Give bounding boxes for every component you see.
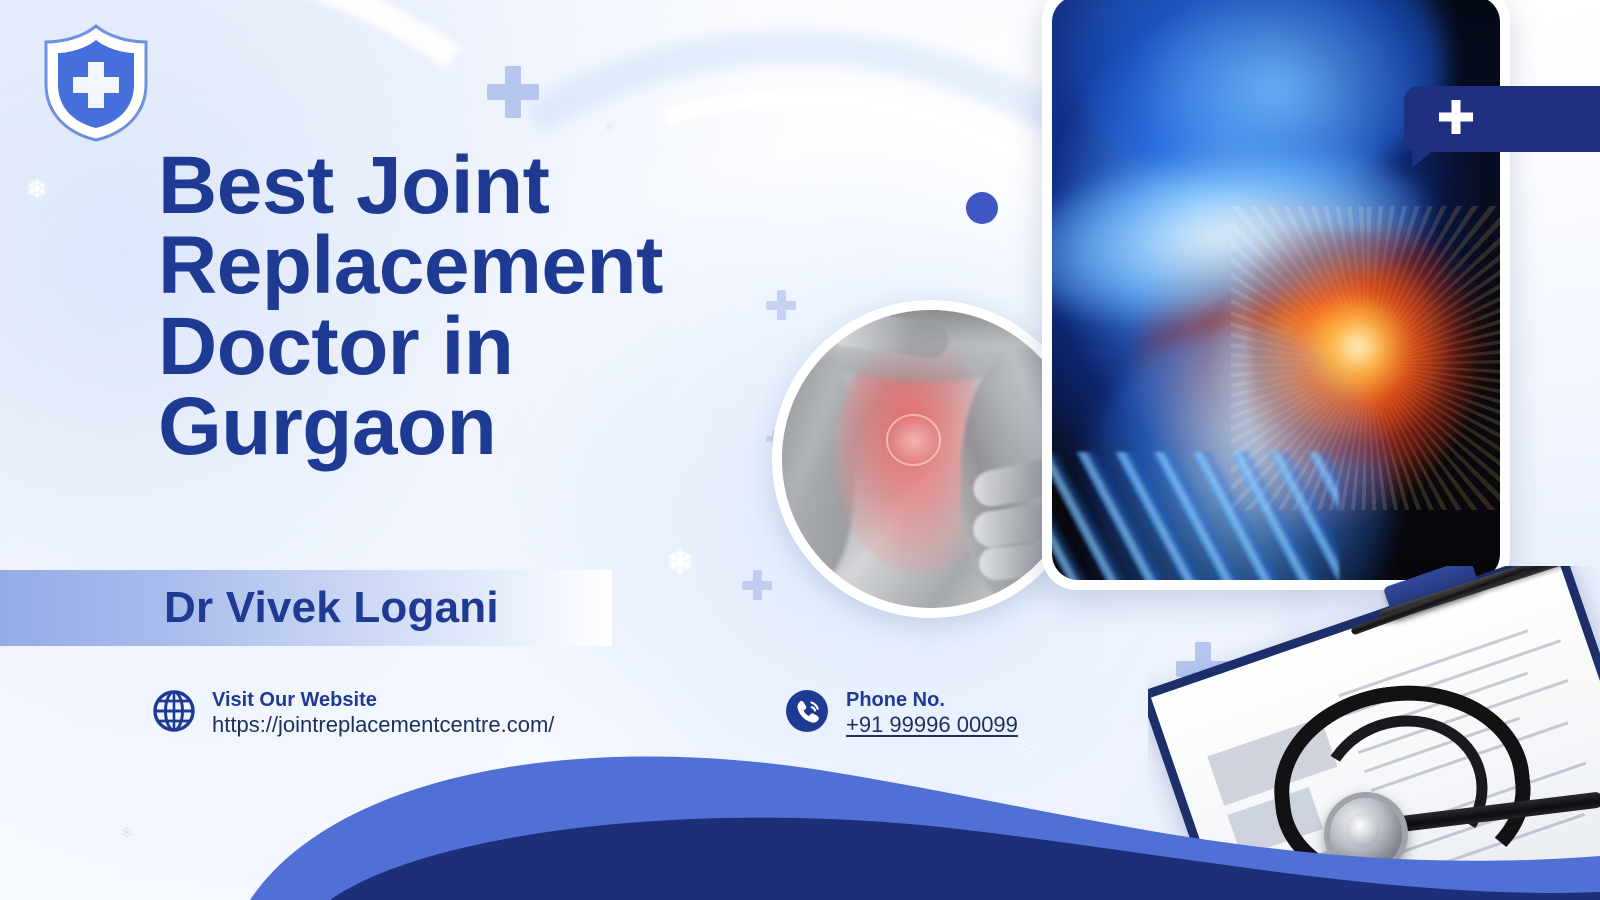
doctor-name: Dr Vivek Logani bbox=[164, 583, 499, 633]
shield-medical-cross-icon bbox=[38, 22, 154, 144]
decor-dot-1 bbox=[966, 192, 998, 224]
headline-line-3: Doctor in bbox=[158, 307, 838, 387]
doctor-name-bar: Dr Vivek Logani bbox=[0, 570, 612, 646]
decor-cross-1 bbox=[487, 66, 539, 118]
photo-kneecap bbox=[886, 414, 941, 466]
xray-joint-inflammation bbox=[1249, 230, 1500, 464]
headline-line-1: Best Joint bbox=[158, 146, 838, 226]
medical-cross-badge bbox=[1404, 86, 1600, 152]
page-title: Best Joint Replacement Doctor in Gurgaon bbox=[158, 146, 838, 467]
decor-sparkle-2: ❄ bbox=[666, 546, 695, 580]
xray-light-streaks bbox=[1052, 452, 1339, 580]
bottom-wave-decoration bbox=[0, 660, 1600, 900]
decor-cross-3 bbox=[742, 570, 772, 600]
decor-sparkle-1: ❄ bbox=[26, 176, 48, 202]
headline-line-2: Replacement bbox=[158, 226, 838, 306]
decor-sparkle-5: ❄ bbox=[604, 120, 616, 134]
plus-cross-icon bbox=[1436, 97, 1476, 142]
medical-promo-banner: ❄ ❄ ❄ ❄ ❄ Best Joint Replacement Doctor … bbox=[0, 0, 1600, 900]
headline-line-4: Gurgaon bbox=[158, 387, 838, 467]
